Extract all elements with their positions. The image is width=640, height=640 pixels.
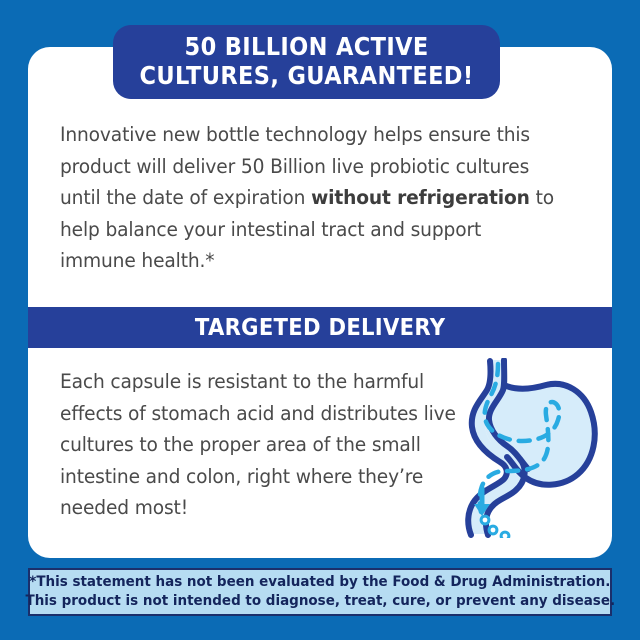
banner-title: TARGETED DELIVERY — [195, 315, 445, 341]
fda-disclaimer-box: *This statement has not been evaluated b… — [28, 568, 612, 616]
header-pill: 50 BILLION ACTIVE CULTURES, GUARANTEED! — [113, 25, 500, 99]
disclaimer-line-1: *This statement has not been evaluated b… — [29, 573, 610, 592]
stomach-icon — [460, 358, 608, 538]
header-line-2: CULTURES, GUARANTEED! — [140, 62, 474, 91]
disclaimer-line-2: This product is not intended to diagnose… — [25, 592, 615, 611]
delivery-paragraph: Each capsule is resistant to the harmful… — [60, 366, 461, 558]
content-card: Innovative new bottle technology helps e… — [28, 47, 612, 558]
targeted-delivery-banner: TARGETED DELIVERY — [28, 307, 612, 348]
section-targeted-delivery: Each capsule is resistant to the harmful… — [28, 348, 612, 558]
header-line-1: 50 BILLION ACTIVE — [184, 33, 428, 62]
intro-paragraph: Innovative new bottle technology helps e… — [60, 119, 557, 277]
